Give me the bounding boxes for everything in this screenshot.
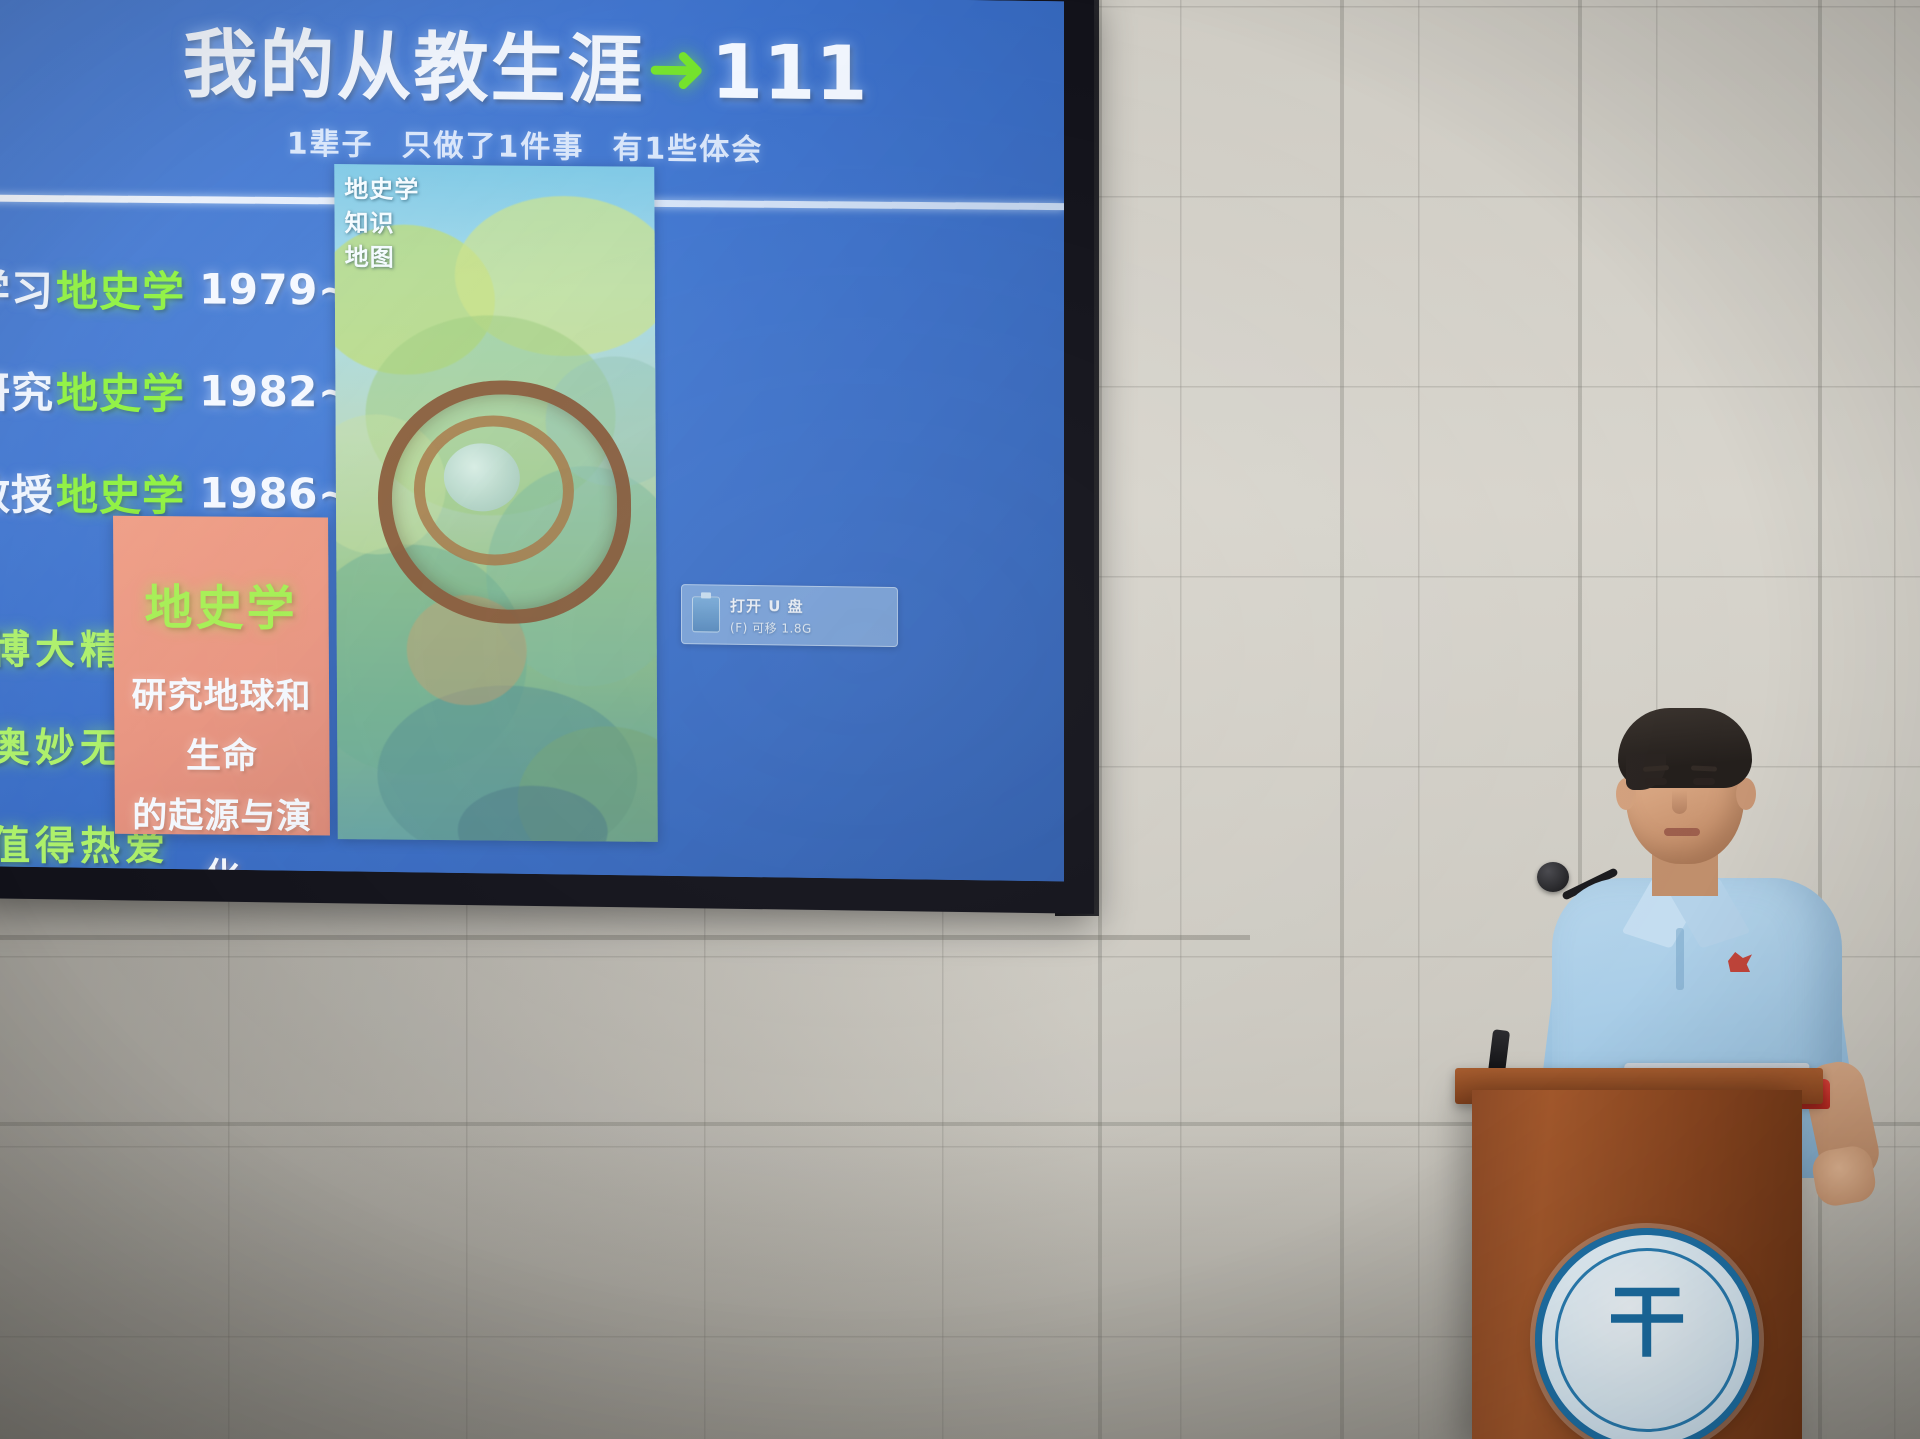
presenter-mouth [1664, 828, 1700, 836]
podium-emblem: 干 [1535, 1228, 1759, 1439]
usb-drive-icon [692, 596, 720, 632]
lecture-hall-photo: 我的从教生涯➜111 1辈子只做了1件事有1些体会 学习 地史学 1979~20… [0, 0, 1920, 1439]
usb-notification-subtitle: (F) 可移 1.8G [730, 618, 812, 636]
projection-screen-surface: 我的从教生涯➜111 1辈子只做了1件事有1些体会 学习 地史学 1979~20… [0, 0, 1064, 881]
bullet-subject: 地史学 [56, 461, 185, 523]
subtitle-part-3: 有1些体会 [612, 131, 763, 168]
bullet-verb: 学习 [0, 256, 54, 318]
illustration-label-line-1: 地史学 [344, 172, 419, 207]
illustration-label-line-2: 知识 [344, 206, 419, 241]
definition-box: 地史学 研究地球和生命 的起源与演化 [113, 516, 330, 836]
presenter-eye-right [1693, 778, 1715, 785]
bullet-subject: 地史学 [56, 257, 185, 319]
illustration-spiral-core [444, 443, 520, 512]
illustration-label-line-3: 地图 [345, 240, 420, 275]
definition-line-1: 研究地球和生命 [120, 666, 324, 788]
emblem-glyph: 干 [1542, 1283, 1752, 1363]
presentation-slide: 我的从教生涯➜111 1辈子只做了1件事有1些体会 学习 地史学 1979~20… [0, 0, 1064, 881]
definition-box-body: 研究地球和生命 的起源与演化 [120, 666, 324, 882]
presenter-hair [1618, 708, 1752, 788]
bullet-verb: 教授 [0, 460, 54, 522]
slide-title: 我的从教生涯➜111 [0, 0, 1064, 124]
presenter-nose [1672, 790, 1687, 814]
bullet-verb: 研究 [0, 358, 54, 420]
slide-subtitle: 1辈子只做了1件事有1些体会 [0, 114, 1064, 173]
presenter-shirt-placket [1676, 928, 1684, 990]
subtitle-part-1: 1辈子 [287, 127, 374, 163]
bullet-subject: 地史学 [56, 359, 185, 421]
knowledge-map-illustration: 地史学 知识 地图 [334, 164, 658, 842]
usb-notification-title: 打开 U 盘 [730, 594, 812, 616]
definition-box-heading: 地史学 [113, 568, 328, 640]
right-arrow-icon: ➜ [647, 26, 709, 111]
presenter-eye-left [1645, 778, 1667, 785]
slide-title-number: 111 [711, 27, 868, 117]
projection-screen-frame: 我的从教生涯➜111 1辈子只做了1件事有1些体会 学习 地史学 1979~20… [0, 0, 1094, 914]
definition-line-2: 的起源与演化 [121, 786, 325, 882]
usb-drive-notification[interactable]: 打开 U 盘 (F) 可移 1.8G [681, 584, 898, 647]
subtitle-part-2: 只做了1件事 [402, 128, 585, 166]
usb-notification-text: 打开 U 盘 (F) 可移 1.8G [730, 594, 812, 636]
illustration-label: 地史学 知识 地图 [344, 172, 420, 275]
slide-title-text: 我的从教生涯 [183, 20, 645, 114]
